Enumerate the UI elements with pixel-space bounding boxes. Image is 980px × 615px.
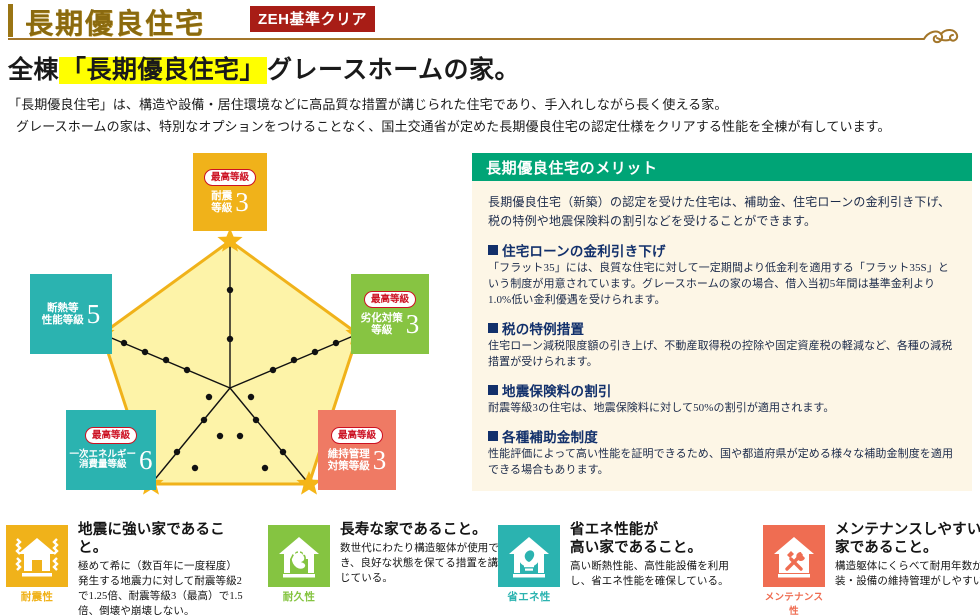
grade-label-line1: 断熱等 <box>47 302 79 314</box>
feature-title: メンテナンスしやすい 家であること。 <box>835 521 980 557</box>
feature-title: 地震に強い家であること。 <box>78 521 243 557</box>
feature-tag: 耐久性 <box>268 589 330 604</box>
feature-title-line1: メンテナンスしやすい <box>835 522 980 538</box>
bullet-square-icon <box>488 323 498 333</box>
feature-text: メンテナンスしやすい 家であること。 構造躯体にくらべて耐用年数が短い内装・設備… <box>835 521 980 590</box>
merit-intro-text: 長期優良住宅（新築）の認定を受けた住宅は、補助金、住宅ローンの金利引き下げ、税の… <box>488 193 956 230</box>
grade-number: 3 <box>235 190 249 214</box>
merit-section-title-text: 地震保険料の割引 <box>502 380 612 400</box>
feature-maintenance: メンテナンス性 メンテナンスしやすい 家であること。 構造躯体にくらべて耐用年数… <box>757 515 980 615</box>
merit-section-insurance: 地震保険料の割引 耐震等級3の住宅は、地震保険料に対して50%の割引が適用されま… <box>488 380 956 417</box>
grade-label: 一次エネルギー 消費量等級 <box>69 450 136 472</box>
feature-title-line1: 省エネ性能が <box>570 522 658 538</box>
feature-title-line2: 高い家であること。 <box>570 540 702 556</box>
feature-description: 構造躯体にくらべて耐用年数が短い内装・設備の維持管理がしやすい。 <box>835 560 980 590</box>
status-badge: ZEH基準クリア <box>250 6 375 32</box>
lead-paragraph-2: グレースホームの家は、特別なオプションをつけることなく、国土交通省が定めた長期優… <box>16 116 891 135</box>
bullet-square-icon <box>488 385 498 395</box>
grade-number: 3 <box>406 312 420 336</box>
feature-title: 省エネ性能が 高い家であること。 <box>570 521 735 557</box>
lead-prefix: 全棟 <box>8 57 59 84</box>
grade-top-badge: 最高等級 <box>364 291 416 308</box>
grade-box-primary-energy: 最高等級 一次エネルギー 消費量等級 6 <box>66 410 156 490</box>
grade-box-degradation: 最高等級 劣化対策 等級 3 <box>351 274 429 354</box>
bullet-square-icon <box>488 431 498 441</box>
merit-section-title-text: 住宅ローンの金利引き下げ <box>502 240 666 260</box>
grade-number: 6 <box>139 448 153 472</box>
merit-section-title-text: 各種補助金制度 <box>502 426 598 446</box>
grade-number: 3 <box>373 448 387 472</box>
merit-section-title: 住宅ローンの金利引き下げ <box>488 240 956 260</box>
grade-value-row: 劣化対策 等級 3 <box>361 312 420 336</box>
grade-box-earthquake: 最高等級 耐震 等級 3 <box>193 153 267 231</box>
merit-section-title: 地震保険料の割引 <box>488 380 956 400</box>
grade-value-row: 断熱等 性能等級 5 <box>42 302 101 326</box>
feature-description: 数世代にわたり構造躯体が使用でき、良好な状態を保てる措置を講じている。 <box>340 542 505 587</box>
grade-label-line1: 一次エネルギー <box>69 449 136 460</box>
lead-section: 全棟「長期優良住宅」グレースホームの家。 「長期優良住宅」は、構造や設備・居住環… <box>8 50 968 86</box>
performance-radar-chart: 最高等級 耐震 等級 3 最高等級 劣化対策 等級 3 最高等級 <box>0 145 470 505</box>
feature-icon-wrap: 耐震性 <box>6 525 68 604</box>
grade-label: 維持管理 対策等級 <box>328 448 370 472</box>
feature-title: 長寿な家であること。 <box>340 521 505 539</box>
grade-label-line2: 等級 <box>211 202 232 214</box>
grade-value-row: 耐震 等級 3 <box>211 190 249 214</box>
lead-paragraph-1: 「長期優良住宅」は、構造や設備・居住環境などに高品質な措置が講じられた住宅であり… <box>8 94 727 113</box>
grade-top-badge: 最高等級 <box>331 427 383 444</box>
merit-panel-body: 長期優良住宅（新築）の認定を受けた住宅は、補助金、住宅ローンの金利引き下げ、税の… <box>472 181 972 479</box>
page-header: 長期優良住宅 ZEH基準クリア <box>0 0 980 42</box>
merit-section-tax: 税の特例措置 住宅ローン減税限度額の引き上げ、不動産取得税の控除や固定資産税の軽… <box>488 318 956 371</box>
merit-section-subsidy: 各種補助金制度 性能評価によって高い性能を証明できるため、国や都道府県が定める様… <box>488 426 956 479</box>
grade-label-line2: 性能等級 <box>42 314 84 326</box>
bullet-square-icon <box>488 245 498 255</box>
grade-label: 耐震 等級 <box>211 190 232 214</box>
grade-top-badge: 最高等級 <box>204 169 256 186</box>
feature-durability: 耐久性 長寿な家であること。 数世代にわたり構造躯体が使用でき、良好な状態を保て… <box>262 515 502 615</box>
feature-icon-wrap: メンテナンス性 <box>763 525 825 615</box>
header-divider <box>8 38 888 40</box>
page-root: 長期優良住宅 ZEH基準クリア 全棟「長期優良住宅」グレースホームの家。 「長期… <box>0 0 980 615</box>
merit-panel-heading: 長期優良住宅のメリット <box>472 153 972 181</box>
house-shake-icon <box>6 525 68 587</box>
house-muscle-icon <box>268 525 330 587</box>
house-tools-icon <box>763 525 825 587</box>
feature-icon-wrap: 耐久性 <box>268 525 330 604</box>
feature-text: 長寿な家であること。 数世代にわたり構造躯体が使用でき、良好な状態を保てる措置を… <box>340 521 505 587</box>
feature-text: 省エネ性能が 高い家であること。 高い断熱性能、高性能設備を利用し、省エネ性能を… <box>570 521 735 590</box>
lead-suffix: グレースホームの家。 <box>267 57 520 84</box>
ornament-flourish-icon <box>880 24 972 52</box>
feature-description: 極めて希に（数百年に一度程度）発生する地震力に対して耐震等級2で1.25倍、耐震… <box>78 560 243 615</box>
merit-section-text: 耐震等級3の住宅は、地震保険料に対して50%の割引が適用されます。 <box>488 401 956 417</box>
grade-number: 5 <box>87 302 101 326</box>
grade-box-maintenance: 最高等級 維持管理 対策等級 3 <box>318 410 396 490</box>
merit-section-title: 各種補助金制度 <box>488 426 956 446</box>
merit-section-title-text: 税の特例措置 <box>502 318 584 338</box>
grade-value-row: 一次エネルギー 消費量等級 6 <box>69 448 152 472</box>
feature-tag: 耐震性 <box>6 589 68 604</box>
grade-label: 劣化対策 等級 <box>361 312 403 336</box>
feature-list: 耐震性 地震に強い家であること。 極めて希に（数百年に一度程度）発生する地震力に… <box>0 515 980 615</box>
grade-label-line2: 対策等級 <box>328 460 370 472</box>
grade-box-insulation: 断熱等 性能等級 5 <box>30 274 112 354</box>
grade-label: 断熱等 性能等級 <box>42 302 84 326</box>
feature-description: 高い断熱性能、高性能設備を利用し、省エネ性能を確保している。 <box>570 560 735 590</box>
feature-title-line2: 家であること。 <box>835 540 938 556</box>
house-bulb-icon <box>498 525 560 587</box>
lead-headline: 全棟「長期優良住宅」グレースホームの家。 <box>8 50 968 86</box>
feature-tag: 省エネ性 <box>498 589 560 604</box>
merit-section-text: 性能評価によって高い性能を証明できるため、国や都道府県が定める様々な補助金制度を… <box>488 447 956 479</box>
grade-label-line2: 等級 <box>371 324 392 336</box>
feature-tag: メンテナンス性 <box>763 589 825 615</box>
merit-section-text: 「フラット35」には、良質な住宅に対して一定期間より低金利を適用する「フラット3… <box>488 261 956 309</box>
grade-top-badge: 最高等級 <box>85 427 137 444</box>
grade-label-line2: 消費量等級 <box>79 459 127 470</box>
merit-section-title: 税の特例措置 <box>488 318 956 338</box>
merit-section-text: 住宅ローン減税限度額の引き上げ、不動産取得税の控除や固定資産税の軽減など、各種の… <box>488 339 956 371</box>
feature-earthquake-resistance: 耐震性 地震に強い家であること。 極めて希に（数百年に一度程度）発生する地震力に… <box>0 515 240 615</box>
header-accent-bar <box>8 4 13 37</box>
grade-label-line1: 耐震 <box>211 190 232 202</box>
grade-label-line1: 劣化対策 <box>361 312 403 324</box>
lead-highlight: 「長期優良住宅」 <box>59 57 267 84</box>
merit-panel: 長期優良住宅のメリット 長期優良住宅（新築）の認定を受けた住宅は、補助金、住宅ロ… <box>472 153 972 491</box>
merit-section-loan: 住宅ローンの金利引き下げ 「フラット35」には、良質な住宅に対して一定期間より低… <box>488 240 956 309</box>
page-title: 長期優良住宅 <box>25 2 205 42</box>
grade-value-row: 維持管理 対策等級 3 <box>328 448 387 472</box>
feature-energy-saving: 省エネ性 省エネ性能が 高い家であること。 高い断熱性能、高性能設備を利用し、省… <box>492 515 732 615</box>
feature-text: 地震に強い家であること。 極めて希に（数百年に一度程度）発生する地震力に対して耐… <box>78 521 243 615</box>
grade-label-line1: 維持管理 <box>328 448 370 460</box>
feature-icon-wrap: 省エネ性 <box>498 525 560 604</box>
